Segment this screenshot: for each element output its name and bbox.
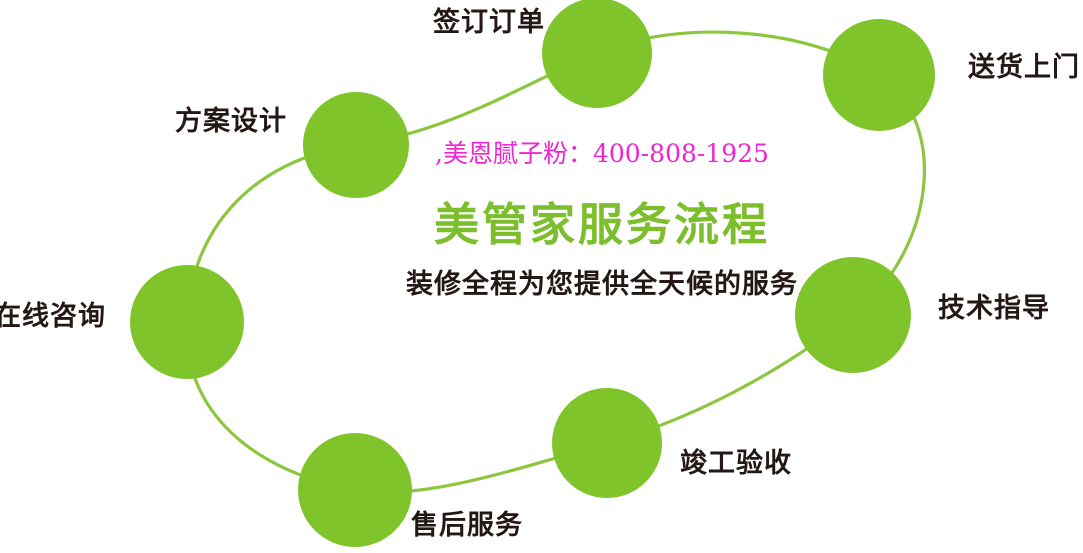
page-subtitle: 装修全程为您提供全天候的服务 — [352, 271, 852, 298]
flow-node-after-sales[interactable] — [298, 433, 412, 547]
flow-label-tech-guidance: 技术指导 — [938, 295, 1050, 322]
flow-label-final-acceptance: 竣工验收 — [680, 450, 792, 477]
center-text-block: ,美恩腻子粉：400-808-1925 美管家服务流程 装修全程为您提供全天候的… — [352, 140, 852, 298]
page-title: 美管家服务流程 — [352, 202, 852, 247]
flow-label-after-sales: 售后服务 — [411, 512, 523, 539]
flow-node-online-consult[interactable] — [130, 265, 244, 379]
flow-label-home-delivery: 送货上门 — [968, 54, 1080, 81]
flow-node-home-delivery[interactable] — [823, 19, 935, 131]
flow-label-plan-design: 方案设计 — [175, 108, 287, 135]
promo-phone-line: ,美恩腻子粉：400-808-1925 — [352, 140, 852, 168]
flow-node-final-acceptance[interactable] — [552, 388, 662, 498]
service-flow-poster: 在线咨询 方案设计 签订订单 送货上门 技术指导 竣工验收 售后服务 ,美恩腻子… — [0, 0, 1083, 553]
flow-node-sign-order[interactable] — [542, 0, 652, 108]
flow-label-online-consult: 在线咨询 — [0, 303, 106, 330]
flow-label-sign-order: 签订订单 — [433, 9, 545, 36]
